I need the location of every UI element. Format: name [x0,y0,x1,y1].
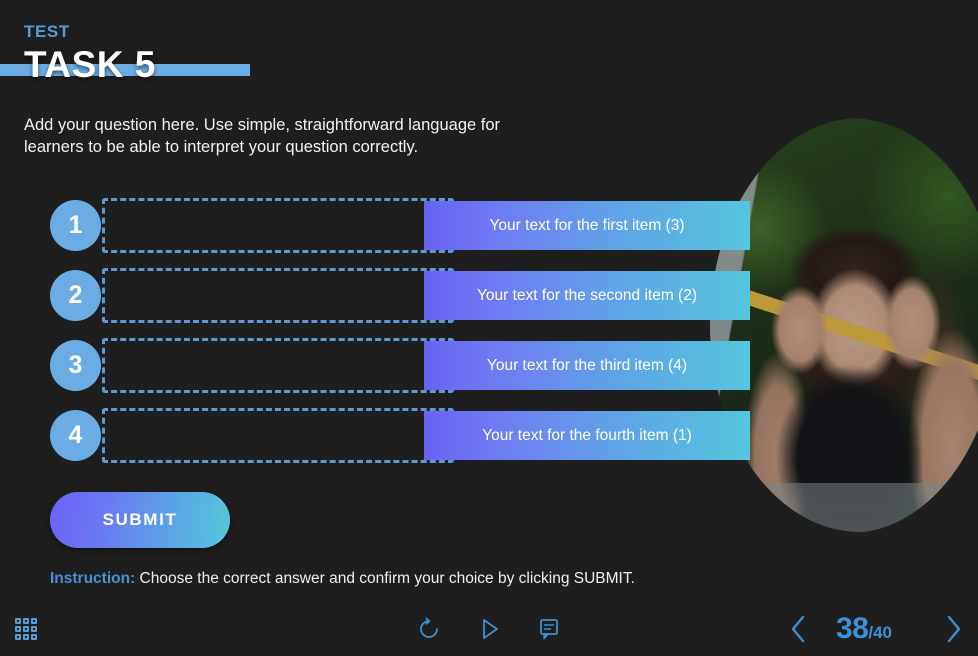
dropzone-3[interactable] [102,338,454,393]
row-number-3: 3 [50,340,101,391]
answer-option-3[interactable]: Your text for the third item (4) [424,341,750,390]
grid-icon[interactable] [13,616,39,642]
pager-current: 38 [836,612,868,646]
question-text: Add your question here. Use simple, stra… [24,114,564,158]
student-photo-image [700,118,978,533]
student-photo [700,118,978,533]
instruction-label: Instruction: [50,570,135,587]
quiz-slide: TEST TASK 5 Add your question here. Use … [0,0,978,656]
slide-pager: 38 /40 [836,612,892,646]
player-toolbar: 38 /40 [0,600,978,656]
answer-option-4[interactable]: Your text for the fourth item (1) [424,411,750,460]
dropzone-1[interactable] [102,198,454,253]
comment-icon[interactable] [534,614,564,644]
row-number-1: 1 [50,200,101,251]
dropzone-2[interactable] [102,268,454,323]
answer-option-2[interactable]: Your text for the second item (2) [424,271,750,320]
answer-option-1[interactable]: Your text for the first item (3) [424,201,750,250]
pager-total: /40 [868,623,892,643]
row-number-2: 2 [50,270,101,321]
next-slide-icon[interactable] [940,613,966,645]
play-icon[interactable] [474,614,504,644]
prev-slide-icon[interactable] [786,613,812,645]
replay-icon[interactable] [414,614,444,644]
slide-eyebrow-label: TEST [24,22,70,42]
row-number-4: 4 [50,410,101,461]
instruction-text: Choose the correct answer and confirm yo… [135,570,635,587]
instruction-line: Instruction: Choose the correct answer a… [50,570,635,588]
page-title: TASK 5 [24,44,156,86]
submit-button[interactable]: SUBMIT [50,492,230,548]
dropzone-4[interactable] [102,408,454,463]
